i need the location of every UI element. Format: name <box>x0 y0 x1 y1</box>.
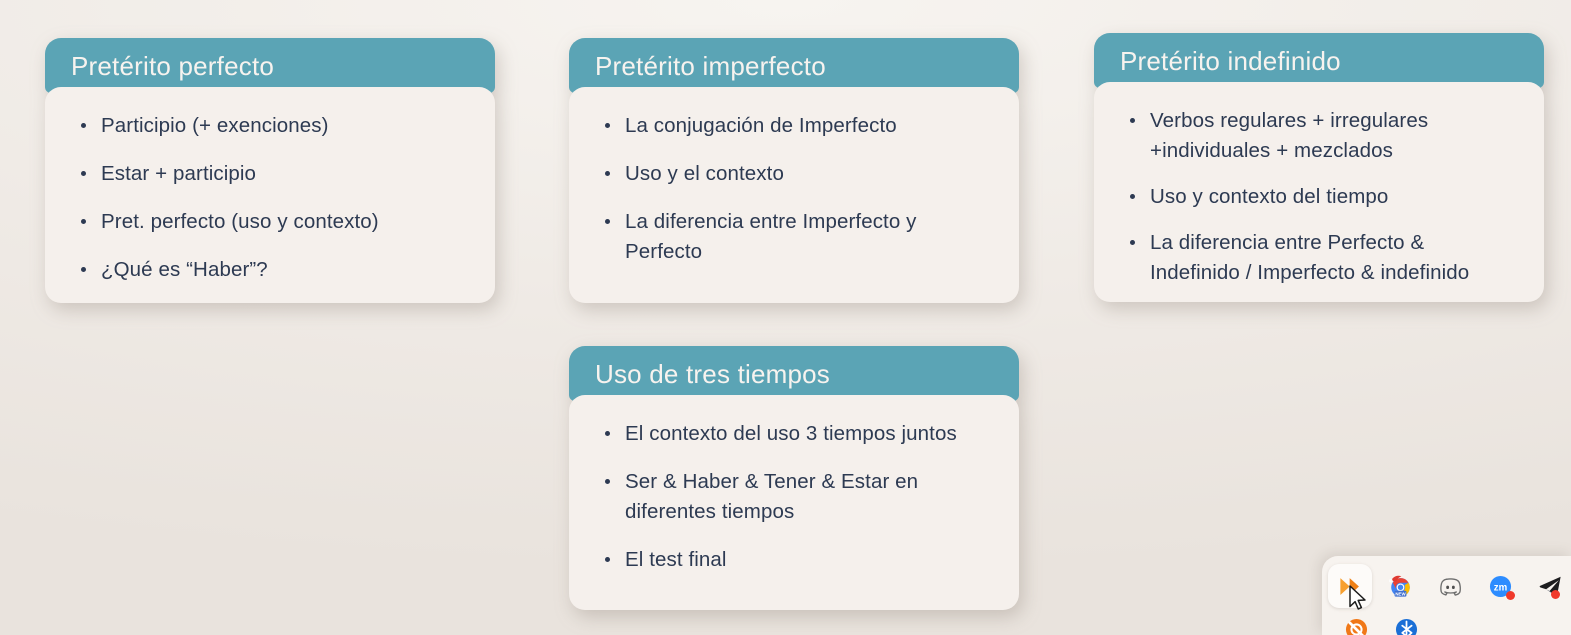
dock-row-secondary <box>1328 616 1567 635</box>
list-item: Uso y el contexto <box>599 159 993 189</box>
card-header: Pretérito indefinido <box>1094 33 1544 88</box>
discord-icon <box>1437 573 1464 600</box>
list-item: Verbos regulares + irregulares +individu… <box>1124 106 1518 166</box>
card-preterito-indefinido[interactable]: Pretérito indefinido Verbos regulares + … <box>1094 33 1544 305</box>
notification-badge <box>1506 591 1515 600</box>
card-title: Pretérito perfecto <box>71 51 495 82</box>
svg-text:zm: zm <box>1493 582 1507 593</box>
taskbar-dock[interactable]: NEW zm <box>1322 556 1571 635</box>
bullet-list: Participio (+ exenciones) Estar + partic… <box>75 111 469 286</box>
card-title: Pretérito imperfecto <box>595 51 1019 82</box>
topic-card-board: Pretérito perfecto Participio (+ exencio… <box>0 0 1571 635</box>
card-body: Participio (+ exenciones) Estar + partic… <box>45 87 495 303</box>
list-item: Ser & Haber & Tener & Estar en diferente… <box>599 467 993 527</box>
list-item: Pret. perfecto (uso y contexto) <box>75 207 469 237</box>
list-item: La diferencia entre Perfecto & Indefinid… <box>1124 228 1518 288</box>
card-body: El contexto del uso 3 tiempos juntos Ser… <box>569 395 1019 610</box>
dock-row-primary: NEW zm <box>1328 562 1567 610</box>
bullet-list: El contexto del uso 3 tiempos juntos Ser… <box>599 419 993 576</box>
dock-item-zoom[interactable]: zm <box>1478 564 1522 608</box>
list-item: Estar + participio <box>75 159 469 189</box>
card-header: Uso de tres tiempos <box>569 346 1019 401</box>
dock-item-tray-orange[interactable] <box>1334 616 1378 635</box>
card-title: Pretérito indefinido <box>1120 46 1544 77</box>
dock-item-bluetooth[interactable] <box>1384 616 1428 635</box>
dock-item-discord[interactable] <box>1428 564 1472 608</box>
card-title: Uso de tres tiempos <box>595 359 1019 390</box>
chrome-santa-hat-icon: NEW <box>1387 573 1414 600</box>
card-body: Verbos regulares + irregulares +individu… <box>1094 82 1544 302</box>
list-item: Participio (+ exenciones) <box>75 111 469 141</box>
card-header: Pretérito perfecto <box>45 38 495 93</box>
list-item: El test final <box>599 545 993 575</box>
list-item: Uso y contexto del tiempo <box>1124 182 1518 212</box>
card-uso-de-tres-tiempos[interactable]: Uso de tres tiempos El contexto del uso … <box>569 346 1019 613</box>
card-preterito-imperfecto[interactable]: Pretérito imperfecto La conjugación de I… <box>569 38 1019 306</box>
dock-item-bandicam[interactable] <box>1328 564 1372 608</box>
orange-circle-slash-icon <box>1343 616 1370 635</box>
list-item: La diferencia entre Imperfecto y Perfect… <box>599 207 993 267</box>
list-item: La conjugación de Imperfecto <box>599 111 993 141</box>
svg-text:NEW: NEW <box>1395 591 1406 596</box>
notification-badge <box>1551 590 1560 599</box>
bandicam-icon <box>1337 573 1364 600</box>
bullet-list: La conjugación de Imperfecto Uso y el co… <box>599 111 993 268</box>
dock-item-chrome[interactable]: NEW <box>1378 564 1422 608</box>
card-preterito-perfecto[interactable]: Pretérito perfecto Participio (+ exencio… <box>45 38 495 306</box>
list-item: ¿Qué es “Haber”? <box>75 255 469 285</box>
bluetooth-icon <box>1393 616 1420 635</box>
bullet-list: Verbos regulares + irregulares +individu… <box>1124 106 1518 289</box>
list-item: El contexto del uso 3 tiempos juntos <box>599 419 993 449</box>
dock-item-telegram[interactable] <box>1528 564 1571 608</box>
card-header: Pretérito imperfecto <box>569 38 1019 93</box>
card-body: La conjugación de Imperfecto Uso y el co… <box>569 87 1019 303</box>
